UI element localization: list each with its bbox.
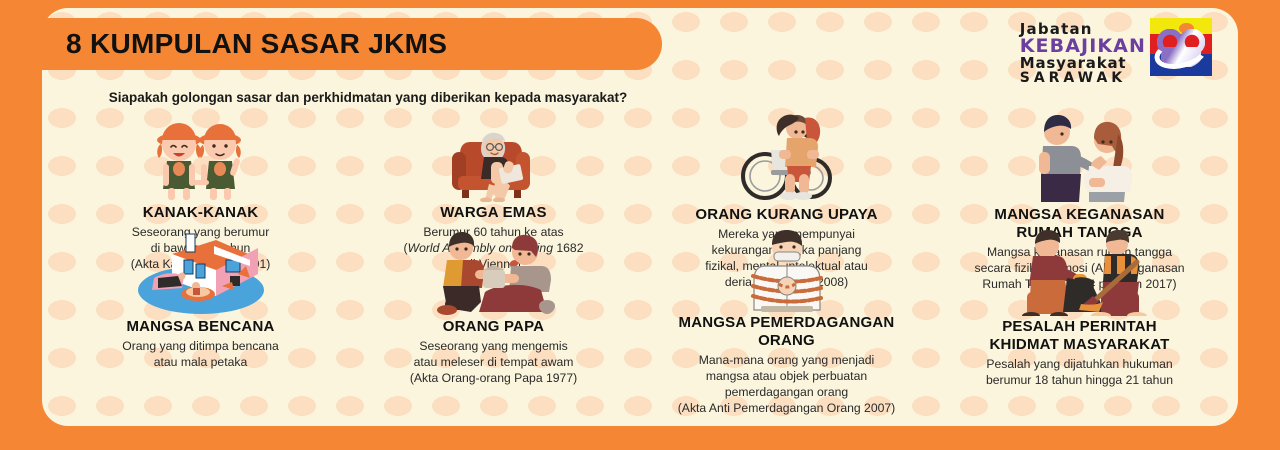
logo-wordmark: Jabatan KEBAJIKAN Masyarakat SARAWAK xyxy=(1020,18,1146,85)
page-title: 8 KUMPULAN SASAR JKMS xyxy=(66,28,447,60)
infographic-panel: KANAK-KANAK Seseorang yang berumur di ba… xyxy=(42,8,1238,426)
card-description: Pesalah yang dijatuhkan hukuman berumur … xyxy=(986,356,1173,388)
card-orang-papa[interactable]: ORANG PAPA Seseorang yang mengemis atau … xyxy=(347,230,640,378)
card-title: MANGSA BENCANA xyxy=(126,318,274,336)
card-kanak-kanak[interactable]: KANAK-KANAK Seseorang yang berumur di ba… xyxy=(54,114,347,218)
title-banner: 8 KUMPULAN SASAR JKMS xyxy=(0,18,662,70)
card-mangsa-bencana[interactable]: MANGSA BENCANA Orang yang ditimpa bencan… xyxy=(54,230,347,378)
card-title: WARGA EMAS xyxy=(440,204,546,222)
logo-line-sarawak: SARAWAK xyxy=(1020,71,1146,85)
card-title: ORANG KURANG UPAYA xyxy=(695,206,877,224)
card-title: KANAK-KANAK xyxy=(143,204,259,222)
wheelchair-user-icon xyxy=(727,114,847,202)
card-title: ORANG PAPA xyxy=(443,318,544,336)
card-mangsa-pemerdagangan-orang[interactable]: MANGSA PEMERDAGANGAN ORANG Mana-mana ora… xyxy=(640,230,933,378)
flooded-house-icon xyxy=(126,230,276,316)
card-orang-kurang-upaya[interactable]: ORANG KURANG UPAYA Mereka yang mempunyai… xyxy=(640,114,933,218)
bound-person-icon xyxy=(727,230,847,312)
community-service-icon xyxy=(1005,230,1155,316)
card-pesalah-perintah-khidmat-masyarakat[interactable]: PESALAH PERINTAH KHIDMAT MASYARAKAT Pesa… xyxy=(933,230,1226,378)
card-warga-emas[interactable]: WARGA EMAS Berumur 60 tahun ke atas (Wor… xyxy=(347,114,640,218)
beggar-donation-icon xyxy=(419,230,569,316)
logo-line-masyarakat: Masyarakat xyxy=(1020,56,1146,71)
card-mangsa-keganasan-rumah-tangga[interactable]: MANGSA KEGANASAN RUMAH TANGGA Mangsa keg… xyxy=(933,114,1226,218)
two-children-icon xyxy=(141,114,261,202)
card-description: Seseorang yang mengemis atau meleser di … xyxy=(410,338,577,386)
card-title: PESALAH PERINTAH KHIDMAT MASYARAKAT xyxy=(990,318,1170,354)
elderly-woman-armchair-icon xyxy=(434,114,554,202)
card-description: Mana-mana orang yang menjadi mangsa atau… xyxy=(678,352,895,416)
card-description: Orang yang ditimpa bencana atau mala pet… xyxy=(122,338,279,370)
card-title: MANGSA PEMERDAGANGAN ORANG xyxy=(679,314,895,350)
subtitle-question: Siapakah golongan sasar dan perkhidmatan… xyxy=(78,88,658,108)
jkms-logo: Jabatan KEBAJIKAN Masyarakat SARAWAK xyxy=(1020,18,1212,85)
heart-emblem xyxy=(1150,18,1212,76)
domestic-violence-icon xyxy=(1015,114,1145,202)
